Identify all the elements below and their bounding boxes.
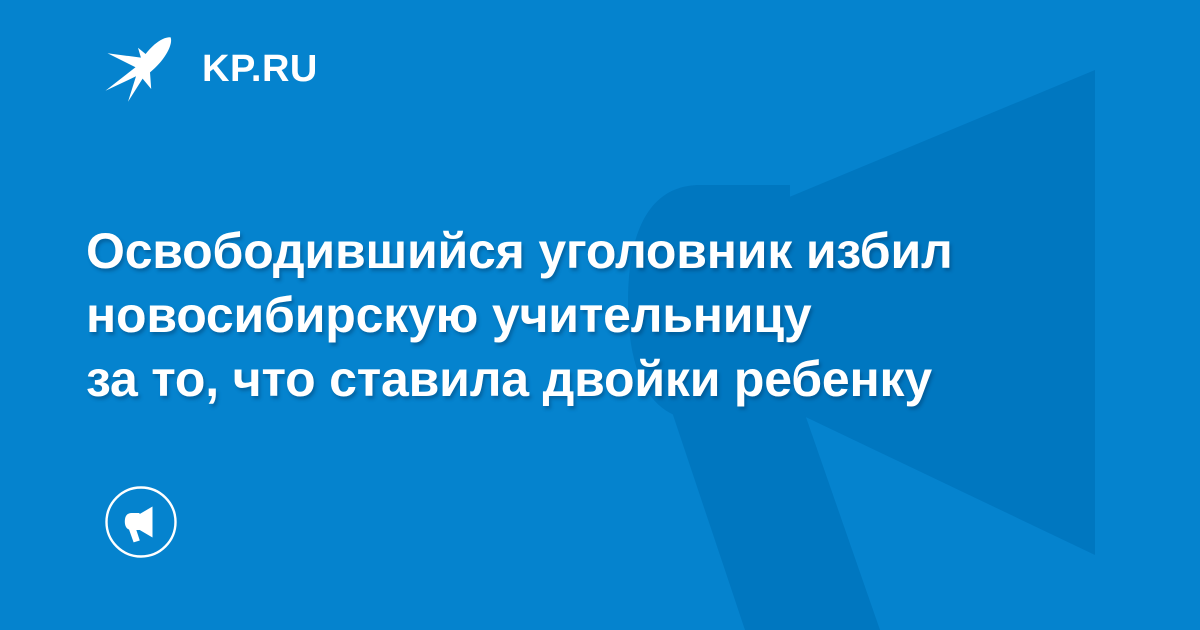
megaphone-badge[interactable] [104, 485, 178, 559]
share-card: KP.RU Освободившийся уголовник избил нов… [0, 0, 1200, 630]
megaphone-icon [104, 485, 178, 559]
headline: Освободившийся уголовник избил новосибир… [86, 219, 1106, 411]
headline-line-3: за то, что ставила двойки ребенку [86, 347, 1106, 411]
headline-line-2: новосибирскую учительницу [86, 283, 1106, 347]
headline-line-1: Освободившийся уголовник избил [86, 219, 1106, 283]
brand-wordmark: KP.RU [202, 50, 318, 88]
swallow-bird-icon [104, 34, 178, 104]
brand-header[interactable]: KP.RU [104, 34, 318, 104]
